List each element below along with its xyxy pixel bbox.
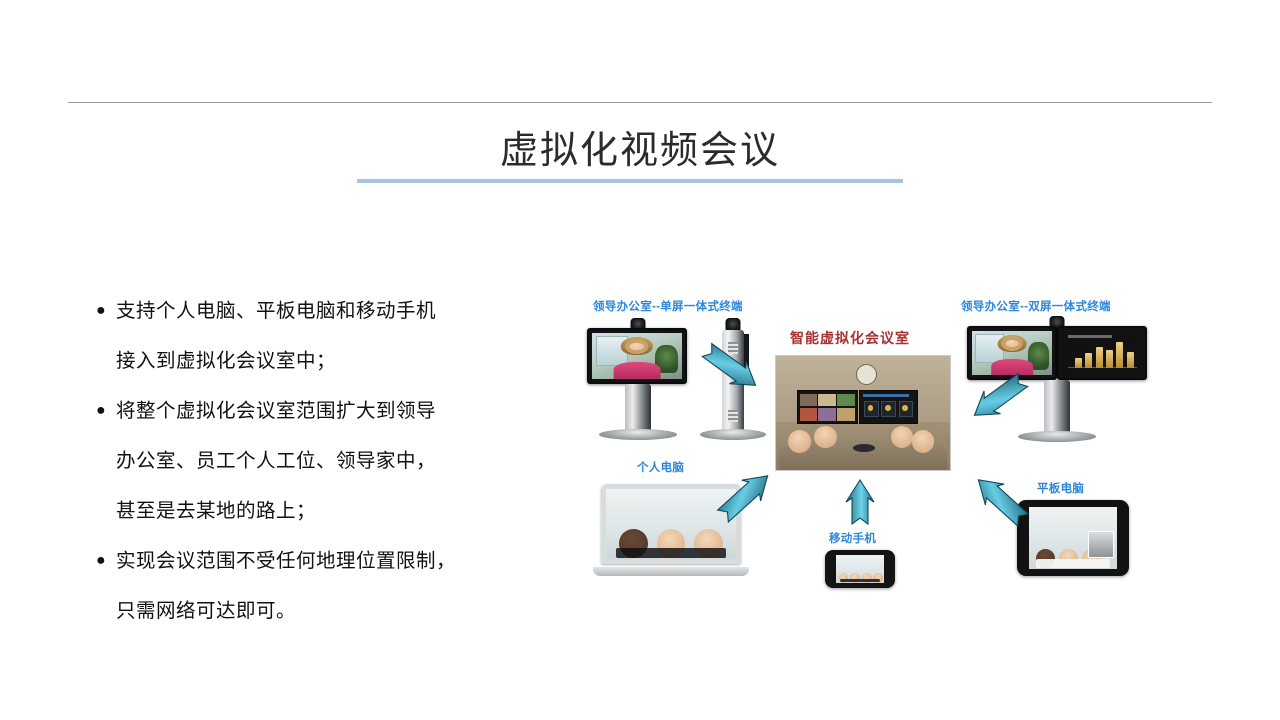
label-tablet: 平板电脑 <box>1037 480 1084 496</box>
video-tile <box>800 408 817 421</box>
laptop-base <box>593 567 749 576</box>
architecture-diagram: 领导办公室--单屏一体式终端 领导办公室--双屏一体式终端 智能虚拟化会议室 个… <box>575 288 1175 608</box>
photo-torso <box>991 359 1033 375</box>
title-underline <box>357 179 903 183</box>
bullet-list: ● 支持个人电脑、平板电脑和移动手机 接入到虚拟化会议室中； ● 将整个虚拟化会… <box>96 286 526 636</box>
person-head <box>814 426 837 449</box>
bullet-text: 支持个人电脑、平板电脑和移动手机 接入到虚拟化会议室中； <box>116 286 436 386</box>
video-control-bar[interactable] <box>840 579 880 583</box>
person-head <box>788 430 811 453</box>
video-control-bar[interactable] <box>1036 559 1110 568</box>
label-mobile-phone: 移动手机 <box>829 530 876 546</box>
video-tile <box>837 408 855 421</box>
video-tile <box>818 394 836 407</box>
chart-title-line <box>1068 335 1112 338</box>
label-dual-screen-terminal: 领导办公室--双屏一体式终端 <box>961 298 1111 314</box>
terminal-display-left <box>967 326 1057 380</box>
phone-video-feed <box>836 555 884 583</box>
room-display-right <box>859 390 918 424</box>
slide-virtualized-video-conference: 虚拟化视频会议 ● 支持个人电脑、平板电脑和移动手机 接入到虚拟化会议室中； ●… <box>0 0 1280 720</box>
device-single-screen-terminal <box>583 318 693 448</box>
chart-bar <box>1127 352 1134 368</box>
label-center-meeting-room: 智能虚拟化会议室 <box>790 328 910 348</box>
terminal-stand-base <box>1018 431 1096 442</box>
room-person <box>814 426 837 450</box>
page-title: 虚拟化视频会议 <box>0 128 1280 174</box>
terminal-side-panel <box>744 334 749 384</box>
terminal-display <box>587 328 687 384</box>
tablet-video-feed <box>1029 507 1117 569</box>
phone-frame <box>825 550 895 588</box>
bullet-marker-icon: ● <box>96 536 116 586</box>
tablet-frame <box>1017 500 1129 576</box>
content-gauge-icon <box>885 405 891 411</box>
chart-bar <box>1085 353 1092 368</box>
room-display-left <box>797 390 858 424</box>
terminal-stand-base <box>599 429 677 440</box>
terminal-vent-top <box>728 342 738 354</box>
laptop-lid <box>601 484 741 564</box>
video-tile <box>800 394 817 407</box>
content-gauge-icon <box>902 405 908 411</box>
laptop-video-feed <box>606 489 736 559</box>
label-personal-computer: 个人电脑 <box>637 459 684 475</box>
terminal-stand-base <box>700 429 766 440</box>
video-tile <box>837 394 855 407</box>
photo-face <box>1002 336 1023 351</box>
list-item: ● 支持个人电脑、平板电脑和移动手机 接入到虚拟化会议室中； <box>96 286 526 386</box>
device-mobile-phone <box>825 550 895 588</box>
tablet-self-view <box>1088 531 1115 558</box>
person-head <box>891 426 914 449</box>
video-tile <box>818 408 836 421</box>
device-dual-screen-terminal <box>967 316 1147 448</box>
terminal-vent-bottom <box>728 410 738 422</box>
terminal-chart-screen <box>1062 331 1142 375</box>
header-divider <box>68 102 1212 103</box>
device-laptop <box>601 484 741 576</box>
device-tablet <box>1017 500 1129 576</box>
content-header-bar <box>863 394 909 397</box>
room-person <box>788 430 811 454</box>
center-meeting-room-photo <box>775 355 951 471</box>
arrow-phone-to-room <box>846 480 874 524</box>
bullet-text: 将整个虚拟化会议室范围扩大到领导 办公室、员工个人工位、领导家中， 甚至是去某地… <box>116 386 436 536</box>
bullet-marker-icon: ● <box>96 286 116 336</box>
terminal-video-feed <box>592 333 682 379</box>
conference-speakerphone-icon <box>853 444 876 452</box>
video-control-bar[interactable] <box>616 548 725 558</box>
terminal-video-feed <box>972 331 1052 375</box>
chart-bar <box>1116 342 1123 368</box>
terminal-stand-column <box>1044 380 1070 434</box>
person-head <box>912 430 935 453</box>
chart-bar <box>1096 347 1103 368</box>
label-single-screen-terminal: 领导办公室--单屏一体式终端 <box>593 298 743 314</box>
terminal-display-right <box>1057 326 1147 380</box>
meeting-room-scene <box>776 356 950 470</box>
photo-face <box>625 339 648 355</box>
chart-bar <box>1106 350 1113 368</box>
list-item: ● 将整个虚拟化会议室范围扩大到领导 办公室、员工个人工位、领导家中， 甚至是去… <box>96 386 526 536</box>
bullet-marker-icon: ● <box>96 386 116 436</box>
room-person <box>891 426 914 450</box>
list-item: ● 实现会议范围不受任何地理位置限制， 只需网络可达即可。 <box>96 536 526 636</box>
chart-bar <box>1075 358 1082 368</box>
device-terminal-side-profile <box>705 318 761 448</box>
bullet-text: 实现会议范围不受任何地理位置限制， 只需网络可达即可。 <box>116 536 456 636</box>
room-person <box>912 430 935 454</box>
photo-torso <box>614 362 661 379</box>
